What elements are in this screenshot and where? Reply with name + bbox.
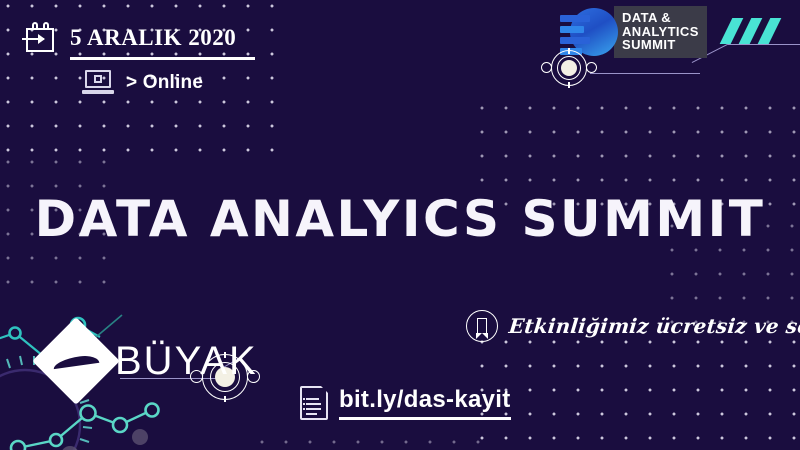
free-certified-note: Etkinliğimiz ücretsiz ve sertifikalıdır! — [466, 310, 800, 342]
brand-logo-textbox: DATA & ANALYTICS SUMMIT — [614, 6, 707, 58]
event-date-underline — [70, 57, 255, 60]
event-info-block: 5 ARALIK 2020 > Online — [24, 22, 254, 96]
diagonal-slashes-icon — [726, 18, 788, 44]
event-date-row: 5 ARALIK 2020 — [24, 22, 254, 54]
registration-link-textwrap: bit.ly/das-kayit — [339, 386, 511, 420]
event-location-text: > Online — [126, 72, 203, 94]
dot-grid-pattern-bottom-center — [250, 430, 490, 450]
event-date-text: 5 ARALIK 2020 — [70, 25, 236, 51]
brand-logo-line3: SUMMIT — [622, 38, 699, 52]
organizer-name: BÜYAK — [115, 339, 258, 384]
laptop-icon — [82, 70, 114, 96]
calendar-arrow-icon — [24, 22, 58, 54]
registration-link-block[interactable]: bit.ly/das-kayit — [300, 386, 511, 420]
organizer-logo: BÜYAK — [45, 330, 258, 392]
dot-grid-pattern-bottom-right — [470, 330, 800, 450]
event-location-row: > Online — [82, 70, 254, 96]
registration-url-underline — [339, 417, 511, 420]
buyak-diamond-icon — [32, 317, 120, 405]
brand-logo-line1: DATA & — [622, 11, 699, 25]
radar-target-icon-top — [541, 48, 597, 100]
brand-logo-line2: ANALYTICS — [622, 25, 699, 39]
registration-url[interactable]: bit.ly/das-kayit — [339, 386, 511, 414]
event-poster: 5 ARALIK 2020 > Online DATA & ANALYTICS … — [0, 0, 800, 450]
connector-line-right — [590, 73, 700, 74]
free-certified-note-text: Etkinliğimiz ücretsiz ve sertifikalıdır! — [508, 314, 800, 338]
bookmark-circle-icon — [466, 310, 498, 342]
connector-line-right-upper — [728, 44, 800, 45]
page-title: DATA ANALYICS SUMMIT — [0, 190, 800, 248]
document-list-icon — [300, 386, 328, 420]
